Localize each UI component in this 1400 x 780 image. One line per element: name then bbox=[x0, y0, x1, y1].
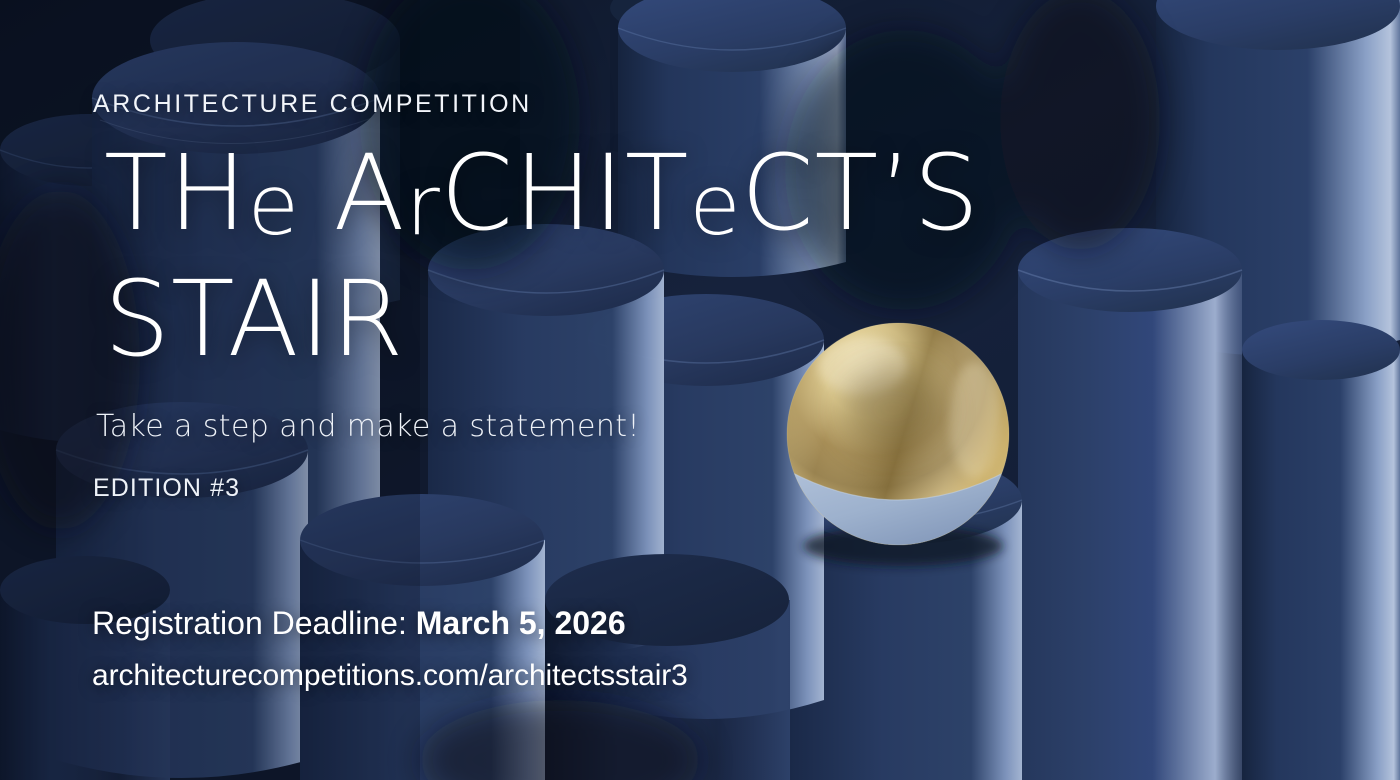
title-seg-e2: e bbox=[689, 157, 741, 254]
title-seg-chit: CHIT bbox=[440, 132, 689, 254]
title-seg-th: TH bbox=[104, 132, 248, 254]
eyebrow-label: ARCHITECTURE COMPETITION bbox=[93, 90, 532, 119]
page-title-line-2: STAIR bbox=[104, 260, 1104, 378]
title-seg-r: r bbox=[406, 157, 441, 254]
edition-label: EDITION #3 bbox=[93, 474, 240, 503]
page-title: THe ArCHITeCT’S STAIR bbox=[104, 134, 1104, 378]
title-seg-a: A bbox=[299, 132, 405, 254]
competition-url[interactable]: architecturecompetitions.com/architectss… bbox=[92, 659, 688, 693]
page-title-line-1: THe ArCHITeCT’S bbox=[104, 134, 1104, 260]
tagline: Take a step and make a statement! bbox=[96, 409, 640, 444]
poster-canvas: ARCHITECTURE COMPETITION THe ArCHITeCT’S… bbox=[0, 0, 1400, 780]
deadline-date: March 5, 2026 bbox=[416, 605, 626, 641]
poster-content: ARCHITECTURE COMPETITION THe ArCHITeCT’S… bbox=[0, 0, 1400, 780]
deadline-label: Registration Deadline: bbox=[92, 605, 407, 641]
title-seg-ts: T’S bbox=[815, 132, 981, 254]
registration-deadline: Registration Deadline: March 5, 2026 bbox=[92, 605, 626, 642]
title-seg-c: C bbox=[741, 132, 815, 254]
title-seg-e1: e bbox=[248, 157, 300, 254]
